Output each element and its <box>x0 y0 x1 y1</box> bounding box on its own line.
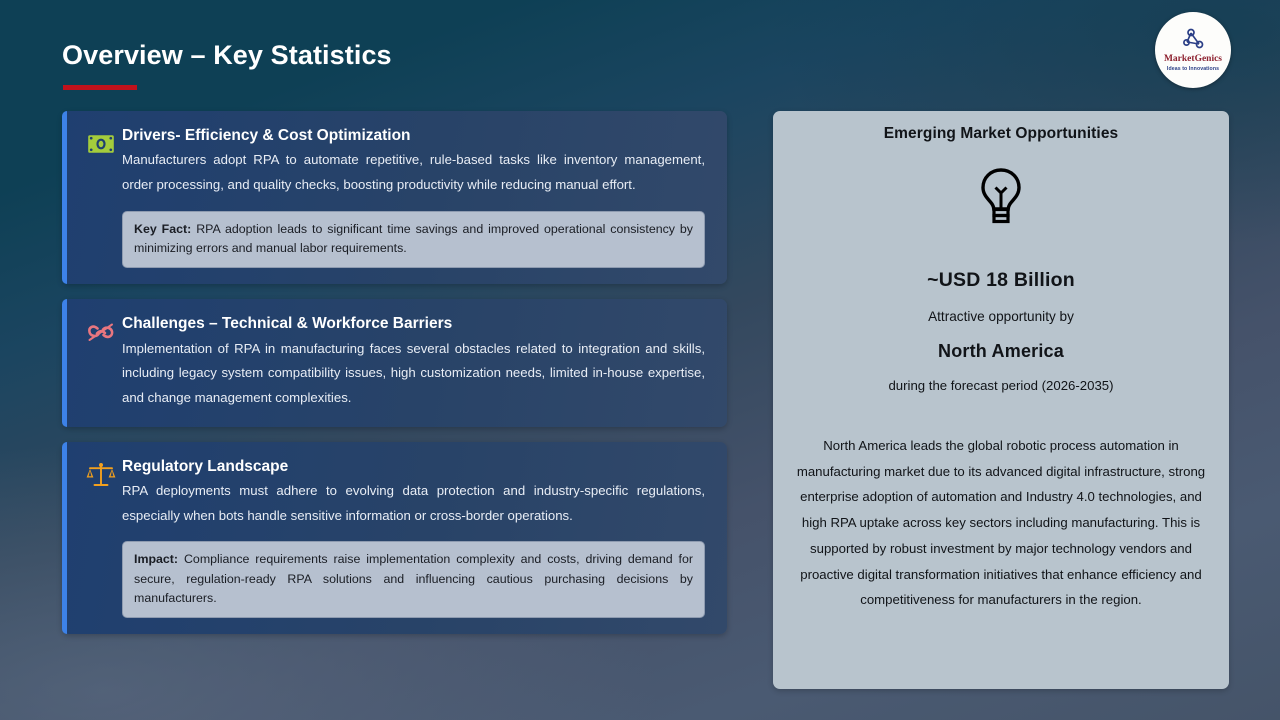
broken-chain-link-icon <box>84 316 118 348</box>
panel-description: North America leads the global robotic p… <box>791 433 1211 613</box>
panel-title: Emerging Market Opportunities <box>791 125 1211 143</box>
brand-logo: MarketGenics Ideas to Innovations <box>1155 12 1231 88</box>
impact-callout: Impact: Compliance requirements raise im… <box>122 541 705 618</box>
callout-label: Impact: <box>134 552 178 566</box>
card-body-text: RPA deployments must adhere to evolving … <box>122 479 705 528</box>
card-title: Challenges – Technical & Workforce Barri… <box>122 314 705 333</box>
callout-label: Key Fact: <box>134 222 191 236</box>
banknote-icon <box>84 128 118 160</box>
callout-text: Compliance requirements raise implementa… <box>134 552 693 604</box>
logo-tagline: Ideas to Innovations <box>1167 67 1219 72</box>
card-body-text: Manufacturers adopt RPA to automate repe… <box>122 148 705 197</box>
logo-brand-name: MarketGenics <box>1164 55 1222 65</box>
card-regulatory: Regulatory Landscape RPA deployments mus… <box>62 442 727 634</box>
title-underline-accent <box>63 85 137 90</box>
forecast-period: during the forecast period (2026-2035) <box>791 378 1211 393</box>
opportunity-subtitle: Attractive opportunity by <box>791 309 1211 324</box>
emerging-market-opportunities-panel: Emerging Market Opportunities ~USD 18 Bi… <box>773 111 1229 689</box>
page-title: Overview – Key Statistics <box>62 40 392 71</box>
balance-scales-icon <box>84 459 118 491</box>
card-drivers: Drivers- Efficiency & Cost Optimization … <box>62 111 727 284</box>
card-title: Drivers- Efficiency & Cost Optimization <box>122 126 705 145</box>
key-fact-callout: Key Fact: RPA adoption leads to signific… <box>122 211 705 268</box>
lightbulb-icon <box>791 167 1211 225</box>
market-value: ~USD 18 Billion <box>791 269 1211 292</box>
callout-text: RPA adoption leads to significant time s… <box>134 222 693 255</box>
card-challenges: Challenges – Technical & Workforce Barri… <box>62 299 727 426</box>
card-title: Regulatory Landscape <box>122 457 705 476</box>
statistics-card-list: Drivers- Efficiency & Cost Optimization … <box>62 111 727 649</box>
network-nodes-icon <box>1178 28 1208 54</box>
card-body-text: Implementation of RPA in manufacturing f… <box>122 337 705 411</box>
leading-region: North America <box>791 341 1211 362</box>
